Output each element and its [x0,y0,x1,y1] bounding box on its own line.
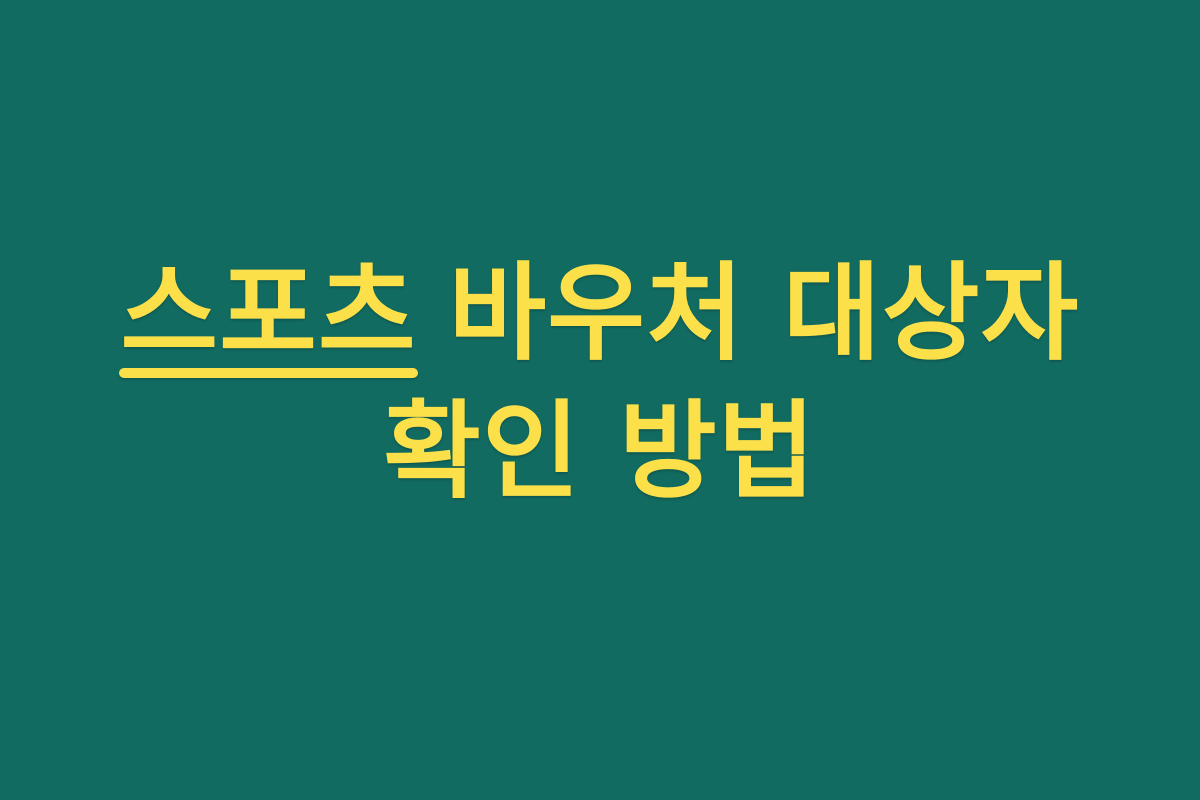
headline-line-1-rest: 바우처 대상자 [449,246,1080,382]
headline-block: 스포츠바우처 대상자 확인 방법 [0,246,1200,519]
poster-canvas: 스포츠바우처 대상자 확인 방법 [0,0,1200,800]
headline-emphasis-underlined: 스포츠 [120,246,416,384]
headline-line-1: 스포츠바우처 대상자 [0,246,1200,384]
headline-line-2: 확인 방법 [0,384,1200,520]
